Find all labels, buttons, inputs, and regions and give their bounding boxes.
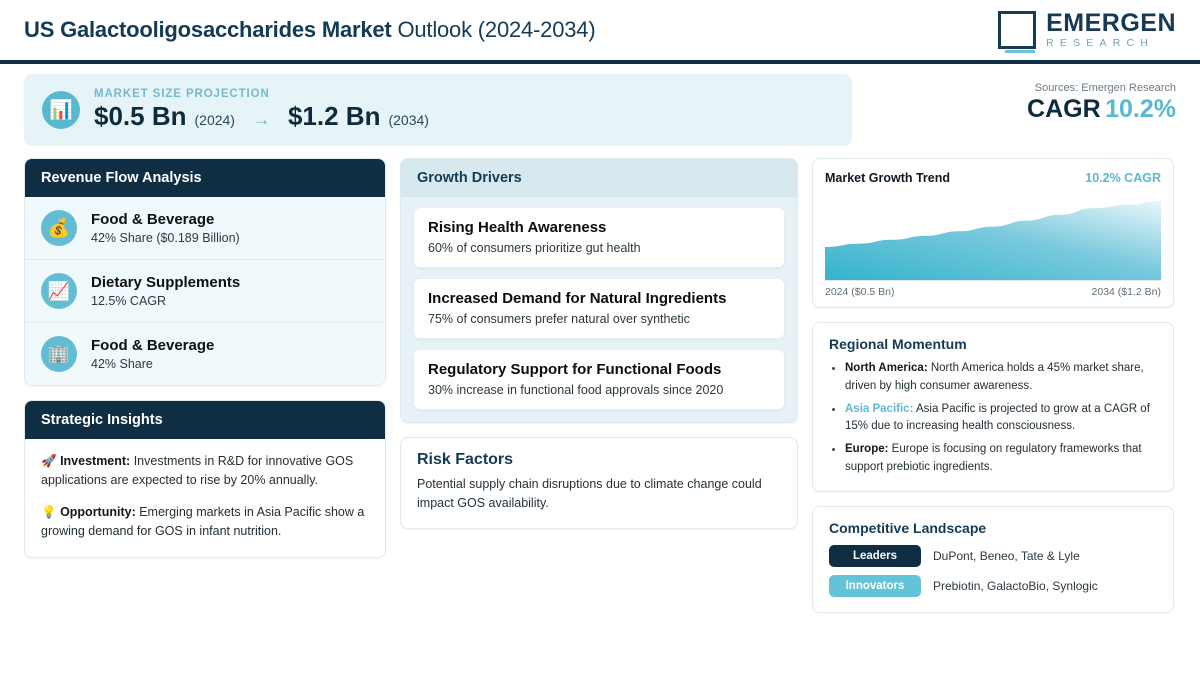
market-growth-trend-body: Market Growth Trend 10.2% CAGR — [813, 159, 1173, 307]
list-item-text: Food & Beverage 42% Share ($0.189 Billio… — [91, 211, 240, 246]
driver-title: Increased Demand for Natural Ingredients — [428, 290, 770, 308]
leaders-companies: DuPont, Beneo, Tate & Lyle — [933, 549, 1080, 563]
lightbulb-icon: 💡 — [41, 505, 57, 519]
insight-investment: 🚀 Investment: Investments in R&D for inn… — [41, 452, 369, 491]
growth-drivers-card: Growth Drivers Rising Health Awareness 6… — [400, 158, 798, 423]
market-size-projection-banner: 📊 MARKET SIZE PROJECTION $0.5 Bn (2024) … — [24, 74, 852, 146]
strategic-insights-card: Strategic Insights 🚀 Investment: Investm… — [24, 400, 386, 558]
list-item-title: Food & Beverage — [91, 211, 240, 230]
list-item[interactable]: Rising Health Awareness 60% of consumers… — [413, 207, 785, 268]
risk-factors-card: Risk Factors Potential supply chain disr… — [400, 437, 798, 529]
arrow-right-icon: → — [243, 110, 280, 130]
money-bag-icon: 💰 — [41, 210, 77, 246]
insight-label: Investment: — [60, 454, 130, 468]
list-item: Europe: Europe is focusing on regulatory… — [829, 441, 1157, 477]
logo-wordmark: EMERGEN RESEARCH — [1046, 11, 1176, 49]
strategic-insights-body: 🚀 Investment: Investments in R&D for inn… — [25, 439, 385, 557]
list-item[interactable]: Increased Demand for Natural Ingredients… — [413, 278, 785, 339]
kpi-end-year: (2034) — [388, 112, 428, 128]
bar-chart-icon: 📊 — [42, 91, 80, 129]
axis-label-end: 2034 ($1.2 Bn) — [1092, 286, 1161, 298]
list-item-text: Food & Beverage 42% Share — [91, 337, 214, 372]
revenue-flow-heading: Revenue Flow Analysis — [25, 159, 385, 197]
risk-factors-body: Risk Factors Potential supply chain disr… — [401, 438, 797, 528]
list-item[interactable]: 📈 Dietary Supplements 12.5% CAGR — [25, 260, 385, 323]
risk-factors-heading: Risk Factors — [417, 451, 781, 469]
kpi-label: MARKET SIZE PROJECTION — [94, 88, 429, 100]
growth-drivers-list: Rising Health Awareness 60% of consumers… — [401, 197, 797, 422]
source-note: Sources: Emergen Research — [868, 82, 1176, 94]
middle-column: Growth Drivers Rising Health Awareness 6… — [400, 158, 798, 529]
region-name: Asia Pacific: — [845, 403, 913, 415]
region-name: North America: — [845, 362, 928, 374]
list-item-sub: 12.5% CAGR — [91, 294, 240, 308]
insight-opportunity: 💡 Opportunity: Emerging markets in Asia … — [41, 503, 369, 542]
axis-label-start: 2024 ($0.5 Bn) — [825, 286, 894, 298]
logo-name: EMERGEN — [1046, 11, 1176, 36]
revenue-flow-card: Revenue Flow Analysis 💰 Food & Beverage … — [24, 158, 386, 386]
growth-drivers-heading: Growth Drivers — [401, 159, 797, 197]
list-item-text: Dietary Supplements 12.5% CAGR — [91, 274, 240, 309]
competitive-landscape-heading: Competitive Landscape — [829, 520, 1157, 536]
list-item-sub: 42% Share — [91, 357, 214, 371]
chart-axis-labels: 2024 ($0.5 Bn) 2034 ($1.2 Bn) — [825, 286, 1161, 298]
region-text: Europe is focusing on regulatory framewo… — [845, 443, 1142, 473]
brand-logo: EMERGEN RESEARCH — [998, 11, 1176, 49]
cagr-value: 10.2% — [1105, 95, 1176, 123]
page-header: US Galactooligosaccharides Market Outloo… — [0, 0, 1200, 60]
kpi-values: $0.5 Bn (2024) → $1.2 Bn (2034) — [94, 101, 429, 132]
page-title: US Galactooligosaccharides Market Outloo… — [24, 17, 595, 43]
page-title-rest: Outlook (2024-2034) — [392, 17, 596, 42]
competitive-landscape-body: Competitive Landscape Leaders DuPont, Be… — [813, 507, 1173, 612]
status-badge-innovators: Innovators — [829, 575, 921, 597]
area-chart — [825, 191, 1161, 281]
logo-square-icon — [998, 11, 1036, 49]
trend-title: Market Growth Trend — [825, 171, 950, 185]
regional-momentum-card: Regional Momentum North America: North A… — [812, 322, 1174, 492]
kpi-end-value: $1.2 Bn — [288, 101, 381, 132]
driver-title: Regulatory Support for Functional Foods — [428, 361, 770, 379]
right-column: Market Growth Trend 10.2% CAGR — [812, 158, 1174, 613]
innovators-companies: Prebiotin, GalactoBio, Synlogic — [933, 579, 1098, 593]
rocket-icon: 🚀 — [41, 454, 57, 468]
logo-subtitle: RESEARCH — [1046, 38, 1176, 49]
building-icon: 🏢 — [41, 336, 77, 372]
strategic-insights-heading: Strategic Insights — [25, 401, 385, 439]
kpi-text-block: MARKET SIZE PROJECTION $0.5 Bn (2024) → … — [94, 88, 429, 132]
driver-sub: 30% increase in functional food approval… — [428, 383, 770, 397]
left-column: Revenue Flow Analysis 💰 Food & Beverage … — [24, 158, 386, 558]
list-item-title: Food & Beverage — [91, 337, 214, 356]
insight-label: Opportunity: — [60, 505, 136, 519]
cagr-line: CAGR 10.2% — [868, 95, 1176, 124]
list-item[interactable]: 🏢 Food & Beverage 42% Share — [25, 323, 385, 385]
chart-up-icon: 📈 — [41, 273, 77, 309]
trend-header: Market Growth Trend 10.2% CAGR — [825, 171, 1161, 185]
driver-title: Rising Health Awareness — [428, 219, 770, 237]
list-item-sub: 42% Share ($0.189 Billion) — [91, 231, 240, 245]
regional-momentum-heading: Regional Momentum — [829, 336, 1157, 352]
table-row: Leaders DuPont, Beneo, Tate & Lyle — [829, 545, 1157, 567]
kpi-start-value: $0.5 Bn — [94, 101, 187, 132]
list-item: North America: North America holds a 45%… — [829, 360, 1157, 396]
trend-cagr-badge: 10.2% CAGR — [1085, 171, 1161, 185]
region-name: Europe: — [845, 443, 888, 455]
market-growth-trend-card: Market Growth Trend 10.2% CAGR — [812, 158, 1174, 308]
list-item: Asia Pacific: Asia Pacific is projected … — [829, 401, 1157, 437]
regional-momentum-list: North America: North America holds a 45%… — [829, 360, 1157, 477]
main-content: Revenue Flow Analysis 💰 Food & Beverage … — [0, 146, 1200, 613]
regional-momentum-body: Regional Momentum North America: North A… — [813, 323, 1173, 491]
kpi-banner-row: 📊 MARKET SIZE PROJECTION $0.5 Bn (2024) … — [0, 64, 1200, 146]
revenue-flow-list: 💰 Food & Beverage 42% Share ($0.189 Bill… — [25, 197, 385, 385]
list-item[interactable]: 💰 Food & Beverage 42% Share ($0.189 Bill… — [25, 197, 385, 260]
driver-sub: 60% of consumers prioritize gut health — [428, 241, 770, 255]
kpi-start-year: (2024) — [195, 112, 235, 128]
cagr-summary: Sources: Emergen Research CAGR 10.2% — [868, 74, 1176, 124]
cagr-label: CAGR — [1027, 95, 1101, 123]
list-item-title: Dietary Supplements — [91, 274, 240, 293]
risk-factors-text: Potential supply chain disruptions due t… — [417, 475, 781, 513]
page-title-strong: US Galactooligosaccharides Market — [24, 17, 392, 42]
area-chart-svg — [825, 191, 1161, 280]
competitive-landscape-card: Competitive Landscape Leaders DuPont, Be… — [812, 506, 1174, 613]
table-row: Innovators Prebiotin, GalactoBio, Synlog… — [829, 575, 1157, 597]
list-item[interactable]: Regulatory Support for Functional Foods … — [413, 349, 785, 410]
driver-sub: 75% of consumers prefer natural over syn… — [428, 312, 770, 326]
status-badge-leaders: Leaders — [829, 545, 921, 567]
